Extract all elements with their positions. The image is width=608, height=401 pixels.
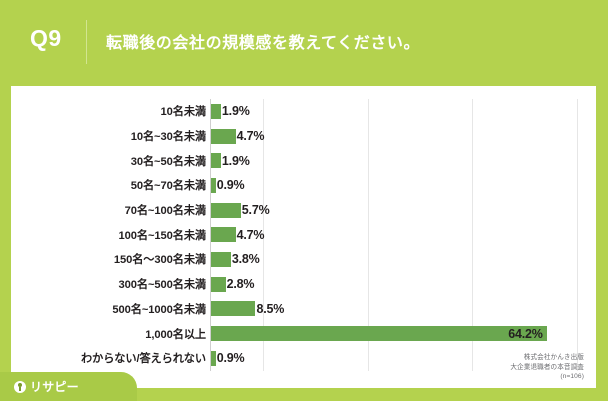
bar-value-label: 8.5% xyxy=(255,302,284,316)
bar[interactable] xyxy=(211,227,236,242)
bar-value-label: 4.7% xyxy=(236,228,265,242)
bar-value-label: 64.2% xyxy=(508,327,546,341)
category-label: 500名~1000名未満 xyxy=(16,301,206,317)
chart-row: 150名〜300名未満3.8% xyxy=(11,247,596,272)
chart-rows: 10名未満1.9%10名~30名未満4.7%30名~50名未満1.9%50名~7… xyxy=(11,99,596,371)
bar-area: 0.9% xyxy=(211,346,244,371)
chart-row: 300名~500名未満2.8% xyxy=(11,272,596,297)
chart-row: 70名~100名未満5.7% xyxy=(11,198,596,223)
bar-value-label: 1.9% xyxy=(221,154,250,168)
chart-row: 30名~50名未満1.9% xyxy=(11,148,596,173)
category-label: 30名~50名未満 xyxy=(16,153,206,169)
category-label: 70名~100名未満 xyxy=(16,202,206,218)
chart-row: 100名~150名未満4.7% xyxy=(11,222,596,247)
category-label: 150名〜300名未満 xyxy=(16,251,206,267)
chart-row: 10名~30名未満4.7% xyxy=(11,124,596,149)
bar-area: 0.9% xyxy=(211,173,244,198)
bar-area: 4.7% xyxy=(211,124,264,149)
bar-value-label: 0.9% xyxy=(216,178,245,192)
header-divider xyxy=(86,20,87,64)
source-note: 株式会社かんき出版 大企業退職者の本音調査 (n=106) xyxy=(510,353,584,382)
bar[interactable] xyxy=(211,252,231,267)
category-label: 1,000名以上 xyxy=(16,326,206,342)
magnifier-icon xyxy=(14,381,26,393)
chart-row: 1,000名以上64.2% xyxy=(11,321,596,346)
bar-value-label: 5.7% xyxy=(241,203,270,217)
chart-row: 500名~1000名未満8.5% xyxy=(11,297,596,322)
brand-plate: リサピー xyxy=(0,372,137,401)
brand-name: リサピー xyxy=(30,378,79,395)
source-note-line3: (n=106) xyxy=(510,372,584,382)
bar-area: 64.2% xyxy=(211,321,547,346)
chart-row: 10名未満1.9% xyxy=(11,99,596,124)
bar[interactable] xyxy=(211,203,241,218)
brand-logo: リサピー xyxy=(14,378,79,395)
bar-value-label: 4.7% xyxy=(236,129,265,143)
bar-area: 2.8% xyxy=(211,272,254,297)
question-title: 転職後の会社の規模感を教えてください。 xyxy=(106,29,420,53)
bar[interactable] xyxy=(211,129,236,144)
bar[interactable] xyxy=(211,153,221,168)
bar-chart: 10名未満1.9%10名~30名未満4.7%30名~50名未満1.9%50名~7… xyxy=(11,86,596,388)
bar[interactable] xyxy=(211,277,226,292)
bar[interactable]: 64.2% xyxy=(211,326,547,341)
bar-area: 3.8% xyxy=(211,247,260,272)
bar-value-label: 1.9% xyxy=(221,104,250,118)
bar-value-label: 0.9% xyxy=(216,351,245,365)
category-label: 100名~150名未満 xyxy=(16,227,206,243)
slide-root: Q9 転職後の会社の規模感を教えてください。 10名未満1.9%10名~30名未… xyxy=(0,0,608,401)
category-label: 10名未満 xyxy=(16,103,206,119)
chart-row: わからない/答えられない0.9% xyxy=(11,346,596,371)
content-card: 10名未満1.9%10名~30名未満4.7%30名~50名未満1.9%50名~7… xyxy=(11,86,596,388)
bar-value-label: 3.8% xyxy=(231,252,260,266)
bar-area: 8.5% xyxy=(211,297,284,322)
bar-area: 1.9% xyxy=(211,99,250,124)
category-label: 10名~30名未満 xyxy=(16,128,206,144)
slide-header: Q9 転職後の会社の規模感を教えてください。 xyxy=(0,0,608,86)
bar-value-label: 2.8% xyxy=(226,277,255,291)
source-note-line2: 大企業退職者の本音調査 xyxy=(510,363,584,373)
chart-row: 50名~70名未満0.9% xyxy=(11,173,596,198)
category-label: わからない/答えられない xyxy=(16,350,206,366)
question-number: Q9 xyxy=(30,24,82,52)
source-note-line1: 株式会社かんき出版 xyxy=(510,353,584,363)
bar-area: 5.7% xyxy=(211,198,270,223)
bar[interactable] xyxy=(211,104,221,119)
category-label: 50名~70名未満 xyxy=(16,177,206,193)
bar-area: 4.7% xyxy=(211,222,264,247)
bar-area: 1.9% xyxy=(211,148,250,173)
bar[interactable] xyxy=(211,301,255,316)
category-label: 300名~500名未満 xyxy=(16,276,206,292)
